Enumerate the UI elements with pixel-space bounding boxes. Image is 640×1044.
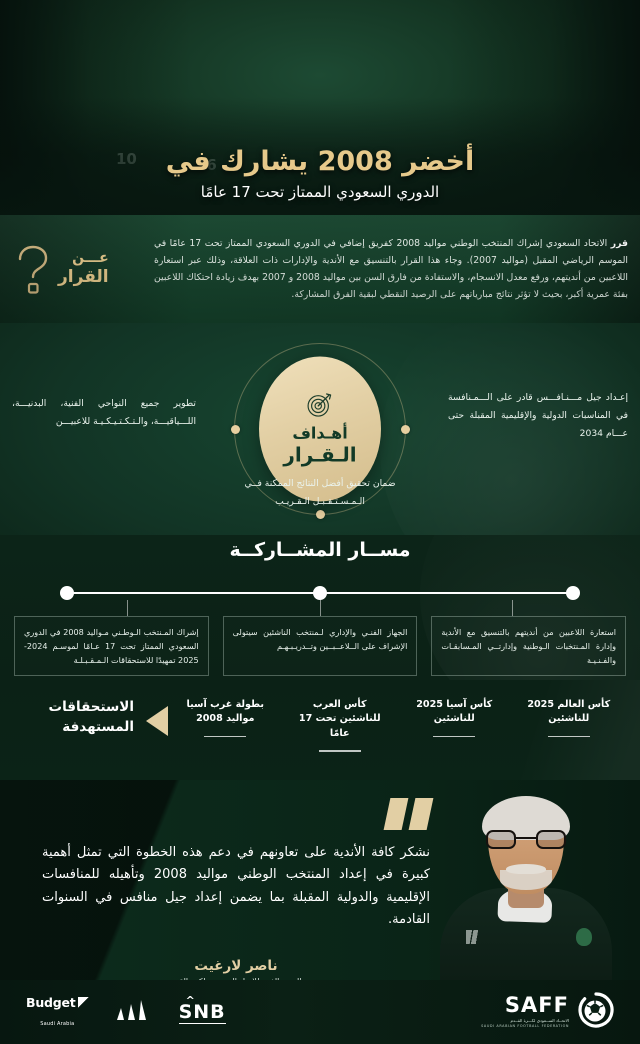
left-triangle-icon <box>134 706 168 736</box>
entitlement-line1: كأس آسيا 2025 <box>416 699 492 710</box>
timeline-stem-2 <box>320 600 321 616</box>
entitlement-item: كأس العرب للناشئين تحت 17 عامًا <box>283 698 398 752</box>
quote-attribution: ناصر لارغيت المدير الفني للاتحاد السعودي… <box>42 958 430 980</box>
snb-logo-icon: ^ SNB <box>179 1001 226 1023</box>
entitlements-title: الاستحقاقات المستهدفة <box>14 698 134 737</box>
page-subtitle: الدوري السعودي الممتاز تحت 17 عامًا <box>0 183 640 201</box>
budget-logo-icon: Budget Saudi Arabia <box>26 995 89 1029</box>
about-label-line1: عـــن <box>58 250 109 268</box>
ring-dot-left <box>231 425 240 434</box>
goals-badge-line2: الـقـرار <box>283 442 356 466</box>
participation-path-section: مســار المشــاركــة استعارة اللاعبين من … <box>0 535 640 680</box>
page-title: أخضر 2008 يشارك في <box>0 146 640 177</box>
goals-section: أهـداف الـقـرار إعـداد جيل مـــنـافـــس … <box>0 323 640 535</box>
quotation-mark-icon <box>387 798 430 830</box>
entitlement-line2: للناشئين <box>434 713 475 724</box>
infographic-page: 20 3 27 <box>0 0 640 1044</box>
entitlement-line1: كأس العالم 2025 <box>527 699 610 710</box>
coach-portrait <box>426 780 626 980</box>
path-card-text: إشراك المـنتخب الـوطـني مـواليد 2008 في … <box>24 625 199 667</box>
goal-item-3: ضمان تحقيق أفضل النتائج الممكنة فــي الـ… <box>225 475 415 511</box>
entitlements-section: الاستحقاقات المستهدفة بطولة غرب آسيا موا… <box>0 680 640 780</box>
timeline <box>60 586 580 600</box>
quote-text: نشكر كافة الأندية على تعاونهم في دعم هذه… <box>42 842 430 931</box>
timeline-node-3 <box>60 586 74 600</box>
entitlement-line1: بطولة غرب آسيا <box>187 699 264 710</box>
about-paragraph: قرر الاتحاد السعودي إشراك المنتخب الوطني… <box>150 235 628 304</box>
entitlement-line2: للناشئين تحت 17 عامًا <box>299 713 381 738</box>
budget-region: Saudi Arabia <box>40 1021 74 1027</box>
goals-badge-line1: أهـداف <box>292 425 347 443</box>
ring-dot-right <box>401 425 410 434</box>
about-body-text: الاتحاد السعودي إشراك المنتخب الوطني موا… <box>154 238 628 301</box>
saff-ball-logo-icon <box>578 992 614 1032</box>
budget-flag-mark <box>78 997 89 1008</box>
footer: SAFF الاتحــاد الســعودي لكـــرة القــدم… <box>0 980 640 1044</box>
about-label-line2: القرار <box>58 267 109 288</box>
path-card-text: استعارة اللاعبين من أنديتهم بالتنسيق مع … <box>441 625 616 667</box>
entitlement-rule <box>319 750 361 752</box>
quote-author-name: ناصر لارغيت <box>42 958 430 974</box>
saff-english-name: SAUDI ARABIAN FOOTBALL FEDERATION <box>481 1025 569 1028</box>
path-card: استعارة اللاعبين من أنديتهم بالتنسيق مع … <box>431 616 626 676</box>
title-block: أخضر 2008 يشارك في الدوري السعودي الممتا… <box>0 146 640 201</box>
goal-item-2: تطوير جميع النواحي الفنية، البدنيـــة، ا… <box>12 395 196 431</box>
sponsor-logos: ^ SNB Budget Saudi Arabia <box>26 995 226 1029</box>
timeline-node-2 <box>313 586 327 600</box>
entitlement-line2: مواليد 2008 <box>196 713 254 724</box>
path-cards: استعارة اللاعبين من أنديتهم بالتنسيق مع … <box>14 616 626 676</box>
saff-logo: SAFF الاتحــاد الســعودي لكـــرة القــدم… <box>481 992 614 1032</box>
about-decision-section: عـــن القرار قرر الاتحاد السعودي إشراك ا… <box>0 215 640 323</box>
quote-section: نشكر كافة الأندية على تعاونهم في دعم هذه… <box>0 780 640 980</box>
about-icon-label-group: عـــن القرار <box>12 242 140 296</box>
path-card: إشراك المـنتخب الـوطـني مـواليد 2008 في … <box>14 616 209 676</box>
path-section-title: مســار المشــاركــة <box>0 539 640 561</box>
entitlement-item: كأس العالم 2025 للناشئين <box>512 698 627 752</box>
entitlement-item: بطولة غرب آسيا مواليد 2008 <box>168 698 283 752</box>
entitlement-rule <box>204 736 246 738</box>
saff-arabic-name: الاتحــاد الســعودي لكـــرة القــدم <box>481 1019 569 1023</box>
entitlement-rule <box>433 736 475 738</box>
saff-wordmark: SAFF <box>481 995 569 1016</box>
entitlement-line1: كأس العرب <box>313 699 367 710</box>
goal-item-1: إعـداد جيل مـــنـافـــس قادر على الـــمـ… <box>448 389 628 443</box>
adidas-jacket-logo-icon <box>466 930 482 944</box>
saff-crest-icon <box>576 928 592 946</box>
entitlements-items: بطولة غرب آسيا مواليد 2008 كأس العرب للن… <box>168 698 626 752</box>
target-icon <box>305 392 335 423</box>
entitlement-item: كأس آسيا 2025 للناشئين <box>397 698 512 752</box>
budget-wordmark: Budget <box>26 995 76 1010</box>
entitlement-line2: للناشئين <box>548 713 589 724</box>
path-card-text: الجهاز الفنـي والإداري لـمنتخب الناشئين … <box>233 625 408 653</box>
adidas-logo-icon <box>113 999 155 1025</box>
question-mark-icon <box>12 242 52 296</box>
glasses-icon <box>486 830 566 849</box>
entitlement-rule <box>548 736 590 738</box>
about-lead-word: قرر <box>611 238 628 249</box>
path-card: الجهاز الفنـي والإداري لـمنتخب الناشئين … <box>223 616 418 676</box>
timeline-stem-3 <box>127 600 128 616</box>
timeline-node-1 <box>566 586 580 600</box>
timeline-stem-1 <box>512 600 513 616</box>
